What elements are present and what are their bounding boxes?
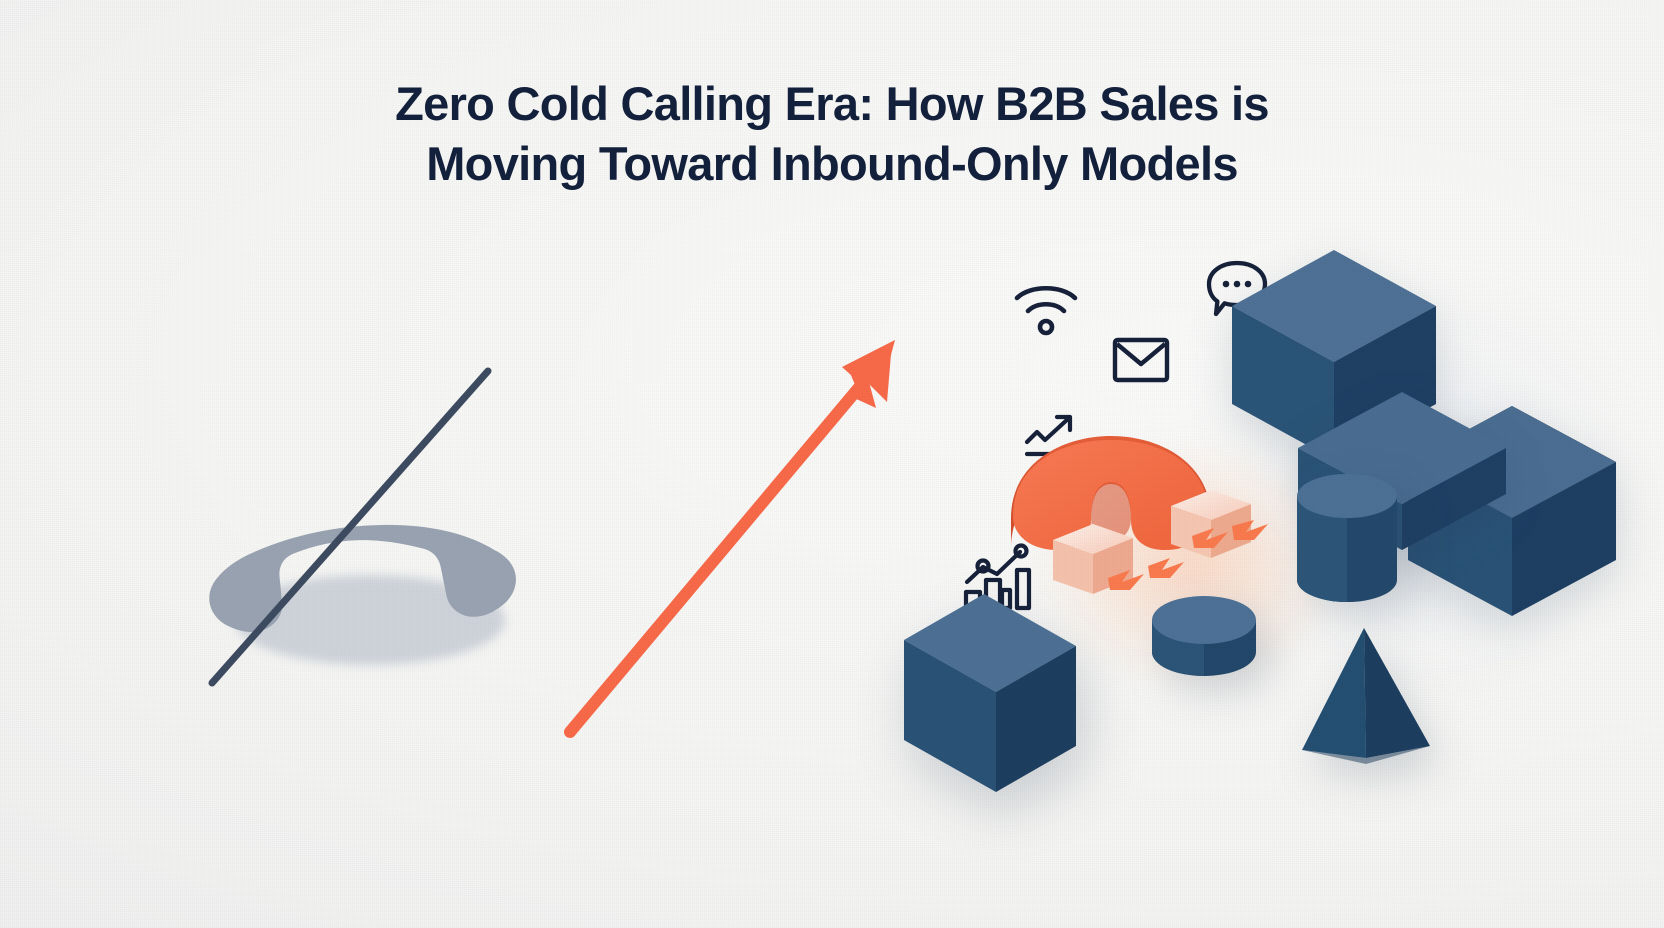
no-cold-calling-motif xyxy=(180,345,550,715)
page-title: Zero Cold Calling Era: How B2B Sales is … xyxy=(0,74,1664,193)
cylinder-3d-icon xyxy=(1292,468,1402,628)
cube-3d-icon xyxy=(898,578,1098,808)
arrow-up-right-icon xyxy=(540,320,930,750)
envelope-icon xyxy=(1112,337,1170,383)
slash-icon xyxy=(180,345,550,715)
growth-arrow xyxy=(540,320,930,750)
cylinder-3d-icon xyxy=(1148,590,1260,700)
wifi-icon xyxy=(1013,281,1079,339)
title-line-1: Zero Cold Calling Era: How B2B Sales is xyxy=(0,74,1664,134)
pyramid-3d-icon xyxy=(1292,620,1442,770)
illustration-canvas: Zero Cold Calling Era: How B2B Sales is … xyxy=(0,0,1664,928)
title-line-2: Moving Toward Inbound-Only Models xyxy=(0,134,1664,194)
